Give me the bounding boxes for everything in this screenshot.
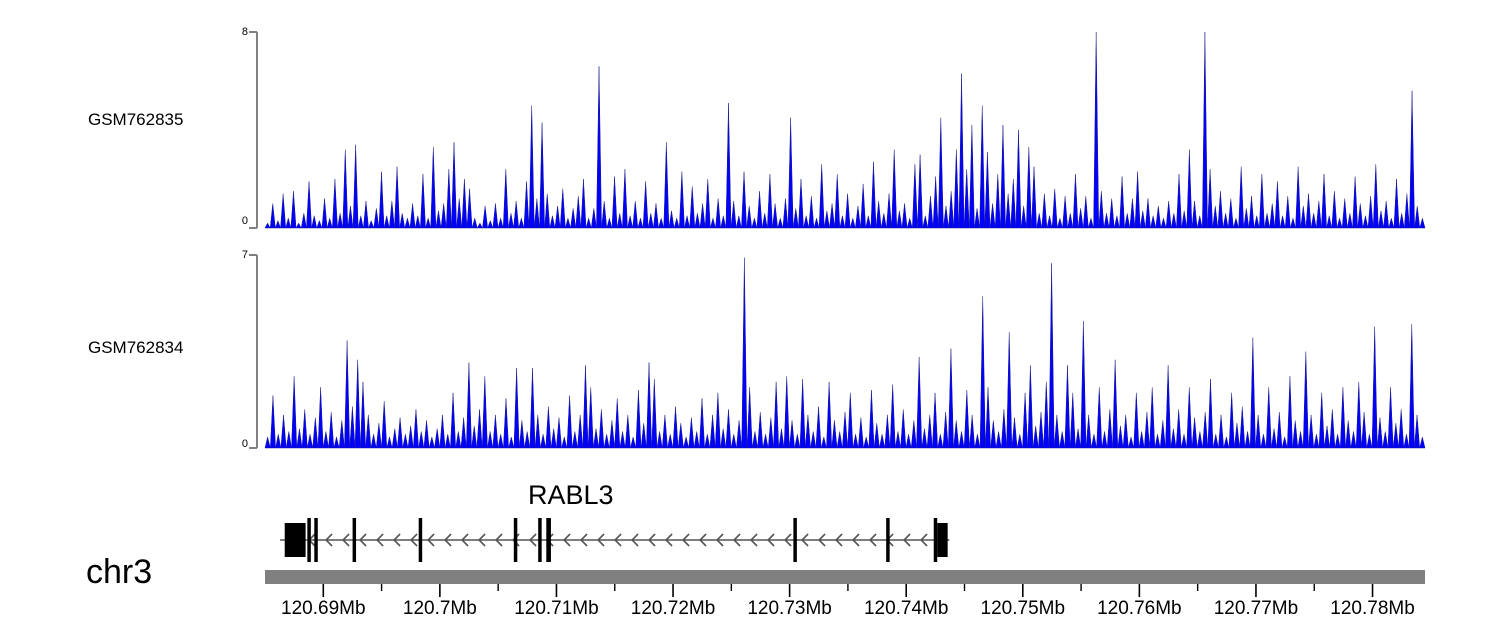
gene-exon-line <box>314 518 317 562</box>
gene-exon-utr-block <box>937 523 947 557</box>
axis-tick-label: 120.7Mb <box>403 598 477 620</box>
gene-exon-line <box>793 518 796 562</box>
axis-tick-label: 120.71Mb <box>514 598 599 620</box>
gene-exon-line <box>886 518 889 562</box>
gene-exon-line <box>307 518 310 562</box>
axis-tick-label: 120.74Mb <box>864 598 949 620</box>
axis-tick-label: 120.76Mb <box>1097 598 1182 620</box>
axis-tick-label: 120.69Mb <box>281 598 366 620</box>
axis-tick-label: 120.75Mb <box>981 598 1066 620</box>
signal-area-track-1 <box>265 32 1425 228</box>
browser-canvas <box>0 0 1500 640</box>
axis-tick-label: 120.72Mb <box>631 598 716 620</box>
gene-exon-line <box>353 518 356 562</box>
gene-exon-line <box>538 518 541 562</box>
ideogram-bar <box>265 570 1425 584</box>
axis-tick-label: 120.77Mb <box>1214 598 1299 620</box>
gene-exon-line <box>546 518 551 562</box>
gene-exon-line <box>419 518 422 562</box>
gene-exon-line <box>514 518 517 562</box>
axis-tick-label: 120.78Mb <box>1330 598 1415 620</box>
signal-area-track-2 <box>265 258 1425 448</box>
axis-tick-label: 120.73Mb <box>747 598 832 620</box>
gene-exon-utr-block <box>285 523 306 557</box>
genome-browser: GSM762835 GSM762834 8 0 7 0 chr3 RABL3 1… <box>0 0 1500 640</box>
gene-exon-line <box>934 518 937 562</box>
